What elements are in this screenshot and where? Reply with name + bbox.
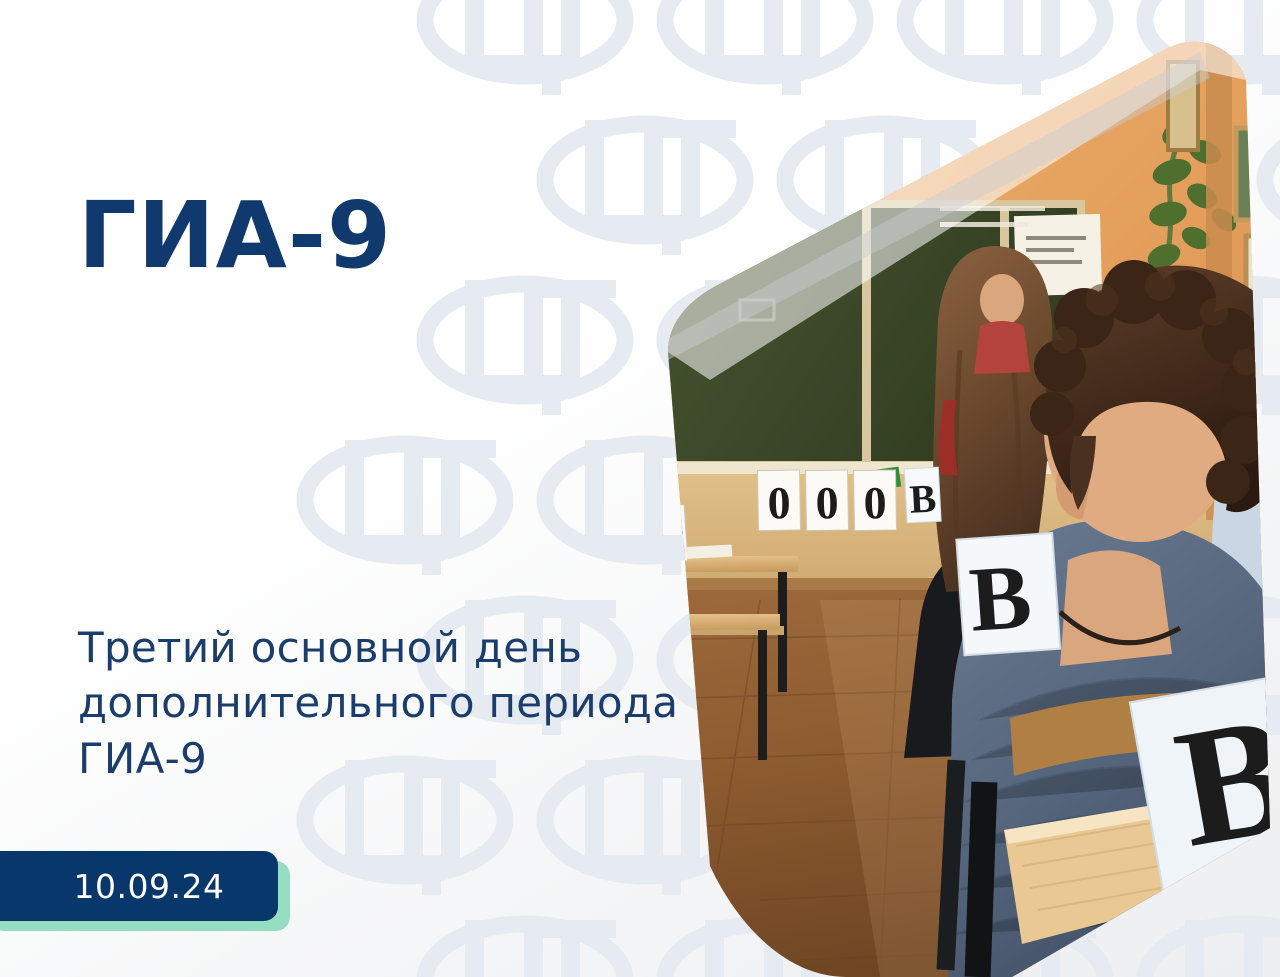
svg-text:0: 0 [815, 477, 839, 528]
svg-text:0: 0 [863, 477, 887, 528]
page-subtitle: Третий основной день дополнительного пер… [78, 620, 738, 786]
desk-number-sign-left: 52 [644, 505, 688, 564]
svg-text:В: В [908, 475, 937, 521]
svg-text:0: 0 [767, 477, 791, 528]
date-badge: 10.09.24 [0, 851, 298, 931]
page-title: ГИА-9 [78, 190, 392, 282]
desk-number-signs: 0 0 0 [757, 470, 896, 531]
poster-canvas: 0 0 0 [0, 0, 1280, 977]
exam-classroom-photo: 0 0 0 [0, 0, 1280, 977]
desk-letter-sign-b-far: В [956, 533, 1060, 655]
date-badge-label: 10.09.24 [32, 867, 225, 906]
svg-text:В: В [966, 545, 1034, 651]
svg-text:52: 52 [646, 518, 687, 563]
desk-letter-sign-b-small: В [904, 467, 941, 523]
date-badge-body: 10.09.24 [0, 851, 278, 921]
student-far-left [626, 498, 682, 630]
